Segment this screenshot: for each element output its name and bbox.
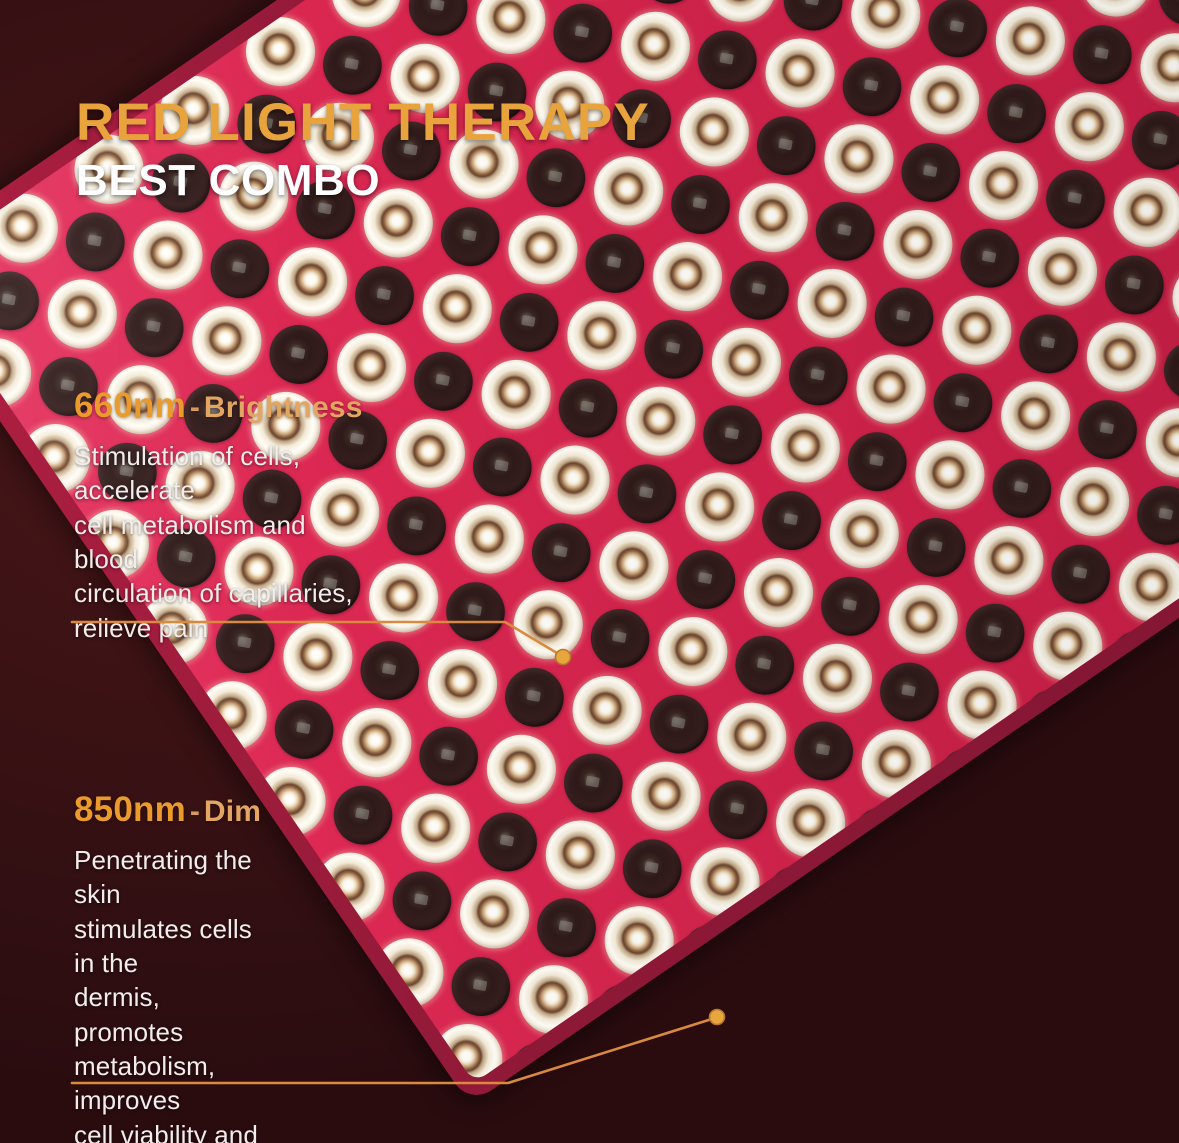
led-850nm [698, 769, 779, 850]
led-660nm [1100, 165, 1179, 260]
led-850nm [864, 276, 945, 357]
led-850nm [751, 480, 832, 561]
led-660nm [527, 433, 622, 528]
led-660nm [934, 658, 1029, 753]
led-nub-icon [816, 744, 830, 757]
led-850nm [612, 828, 693, 909]
led-nub-icon [1014, 481, 1028, 494]
led-850nm [500, 1032, 581, 1083]
led-850nm [671, 914, 752, 995]
spec-description-660nm: Stimulation of cells, accelerate cell me… [74, 439, 363, 645]
led-660nm [870, 197, 965, 292]
led-nub-icon [789, 888, 803, 901]
page-title: RED LIGHT THERAPY [76, 96, 650, 150]
led-850nm [114, 287, 195, 368]
led-660nm [902, 427, 997, 522]
led-850nm [200, 228, 281, 309]
led-nub-icon [645, 861, 659, 874]
led-nub-icon [752, 283, 766, 296]
led-660nm [752, 26, 847, 121]
led-660nm [956, 138, 1051, 233]
led-660nm [383, 406, 478, 501]
led-850nm [580, 598, 661, 679]
spec-description-850nm: Penetrating the skin stimulates cells in… [74, 843, 261, 1143]
led-nub-icon [671, 717, 685, 730]
mode-label-850nm: Dim [204, 795, 261, 828]
led-nub-icon [1132, 653, 1146, 666]
led-850nm [376, 485, 457, 566]
led-660nm [120, 208, 215, 303]
led-850nm [842, 796, 923, 877]
led-660nm [500, 577, 595, 672]
led-nub-icon [875, 829, 889, 842]
led-660nm [1106, 540, 1179, 635]
led-660nm [495, 202, 590, 297]
led-660nm [420, 1011, 515, 1083]
led-nub-icon [811, 369, 825, 382]
led-850nm [832, 46, 913, 127]
led-nub-icon [757, 658, 771, 671]
led-nub-icon [463, 229, 477, 242]
led-850nm [435, 571, 516, 652]
led-850nm [666, 539, 747, 620]
led-850nm [1153, 330, 1179, 411]
led-nub-icon [1127, 278, 1141, 291]
led-nub-icon [955, 395, 969, 408]
spec-dash-660nm: - [186, 391, 204, 424]
led-nub-icon [468, 604, 482, 617]
led-660nm [34, 266, 129, 361]
led-850nm [1008, 303, 1089, 384]
led-nub-icon [436, 374, 450, 387]
led-660nm [677, 834, 772, 929]
led-nub-icon [961, 770, 975, 783]
led-850nm [805, 191, 886, 272]
led-660nm [329, 695, 424, 790]
led-nub-icon [580, 401, 594, 414]
led-nub-icon [345, 58, 359, 71]
led-nub-icon [805, 0, 819, 6]
led-660nm [731, 545, 826, 640]
led-850nm [1014, 678, 1095, 759]
led-850nm [1067, 389, 1148, 470]
led-850nm [575, 223, 656, 304]
led-nub-icon [693, 197, 707, 210]
led-660nm [318, 0, 413, 41]
led-nub-icon [639, 486, 653, 499]
led-850nm [639, 684, 720, 765]
led-nub-icon [355, 808, 369, 821]
led-660nm [1015, 224, 1110, 319]
led-660nm [356, 550, 451, 645]
led-660nm [758, 400, 853, 495]
led-850nm [489, 282, 570, 363]
led-660nm [463, 0, 558, 67]
led-nub-icon [784, 513, 798, 526]
led-660nm [559, 663, 654, 758]
led-nub-icon [575, 26, 589, 39]
led-nub-icon [1154, 133, 1168, 146]
led-850nm [1126, 475, 1179, 556]
led-850nm [923, 362, 1004, 443]
led-660nm [988, 368, 1083, 463]
led-660nm [704, 690, 799, 785]
led-660nm [474, 722, 569, 817]
led-850nm [757, 855, 838, 936]
led-850nm [628, 0, 709, 15]
led-850nm [543, 0, 624, 74]
led-nub-icon [720, 53, 734, 66]
led-850nm [837, 421, 918, 502]
led-660nm [897, 52, 992, 147]
title-block: RED LIGHT THERAPY BEST COMBO [76, 96, 650, 204]
led-nub-icon [1073, 567, 1087, 580]
wavelength-label-850nm: 850nm [74, 790, 186, 829]
led-660nm [179, 293, 274, 388]
led-660nm [763, 775, 858, 870]
led-850nm [1041, 534, 1122, 615]
led-nub-icon [147, 320, 161, 333]
mode-label-660nm: Brightness [204, 391, 363, 424]
led-850nm [746, 105, 827, 186]
led-660nm [983, 0, 1078, 89]
led-660nm [233, 4, 328, 99]
led-850nm [409, 716, 490, 797]
led-850nm [521, 512, 602, 593]
led-850nm [1121, 100, 1179, 181]
led-nub-icon [1159, 508, 1173, 521]
led-nub-icon [382, 663, 396, 676]
led-nub-icon [923, 165, 937, 178]
led-660nm [816, 486, 911, 581]
led-660nm [1074, 309, 1169, 404]
led-660nm [849, 716, 944, 811]
led-nub-icon [532, 1065, 546, 1078]
led-nub-icon [666, 342, 680, 355]
led-850nm [810, 566, 891, 647]
led-660nm [784, 256, 879, 351]
led-nub-icon [704, 947, 718, 960]
spec-block-660nm: 660nm-Brightness Stimulation of cells, a… [74, 388, 363, 645]
led-660nm [184, 668, 279, 763]
led-nub-icon [473, 979, 487, 992]
led-850nm [778, 335, 859, 416]
led-nub-icon [779, 138, 793, 151]
led-850nm [1094, 244, 1175, 325]
led-nub-icon [586, 776, 600, 789]
led-850nm [553, 742, 634, 823]
led-660nm [875, 572, 970, 667]
led-850nm [430, 196, 511, 277]
led-660nm [843, 342, 938, 437]
led-660nm [618, 749, 713, 844]
led-nub-icon [2, 293, 16, 306]
page-subtitle: BEST COMBO [76, 158, 650, 204]
led-nub-icon [377, 288, 391, 301]
led-660nm [640, 229, 735, 324]
led-nub-icon [1041, 336, 1055, 349]
led-nub-icon [864, 79, 878, 92]
led-nub-icon [613, 631, 627, 644]
led-660nm [506, 952, 601, 1047]
led-850nm [869, 651, 950, 732]
led-660nm [672, 459, 767, 554]
led-nub-icon [1046, 711, 1060, 724]
led-660nm [608, 0, 703, 94]
led-nub-icon [896, 310, 910, 323]
led-nub-icon [495, 460, 509, 473]
led-660nm [645, 604, 740, 699]
led-nub-icon [870, 454, 884, 467]
led-660nm [388, 781, 483, 876]
led-660nm [447, 866, 542, 961]
led-660nm [1020, 599, 1115, 694]
led-850nm [344, 255, 425, 336]
led-660nm [468, 347, 563, 442]
led-660nm [591, 893, 686, 988]
led-660nm [693, 0, 788, 35]
infographic-canvas: RED LIGHT THERAPY BEST COMBO 660nm-Brigh… [0, 0, 1179, 1143]
led-nub-icon [982, 251, 996, 264]
led-660nm [361, 925, 456, 1020]
led-850nm [1099, 619, 1179, 700]
led-nub-icon [929, 540, 943, 553]
led-nub-icon [521, 315, 535, 328]
led-850nm [259, 314, 340, 395]
led-660nm [0, 325, 44, 420]
led-nub-icon [725, 428, 739, 441]
led-nub-icon [291, 347, 305, 360]
led-850nm [660, 164, 741, 245]
led-nub-icon [730, 802, 744, 815]
led-850nm [0, 260, 50, 341]
led-850nm [976, 73, 1057, 154]
led-850nm [607, 453, 688, 534]
spec-block-850nm: 850nm-Dim Penetrating the skin stimulate… [74, 792, 261, 1143]
led-nub-icon [232, 261, 246, 274]
led-660nm [811, 111, 906, 206]
led-850nm [634, 309, 715, 390]
led-nub-icon [559, 920, 573, 933]
led-660nm [613, 374, 708, 469]
led-660nm [533, 808, 628, 903]
led-850nm [692, 394, 773, 475]
led-nub-icon [414, 893, 428, 906]
led-nub-icon [441, 749, 455, 762]
led-850nm [783, 710, 864, 791]
led-850nm [891, 132, 972, 213]
led-850nm [548, 367, 629, 448]
led-850nm [526, 887, 607, 968]
led-850nm [1035, 159, 1116, 240]
led-660nm [554, 288, 649, 383]
led-850nm [403, 341, 484, 422]
led-660nm [667, 84, 762, 179]
led-850nm [55, 201, 136, 282]
led-850nm [1062, 14, 1143, 95]
led-850nm [382, 860, 463, 941]
led-nub-icon [698, 572, 712, 585]
led-850nm [928, 737, 1009, 818]
led-nub-icon [430, 0, 444, 12]
led-850nm [441, 946, 522, 1027]
led-nub-icon [500, 835, 514, 848]
led-nub-icon [838, 224, 852, 237]
led-nub-icon [1068, 192, 1082, 205]
led-850nm [719, 250, 800, 331]
led-660nm [415, 636, 510, 731]
led-660nm [924, 0, 1019, 3]
wavelength-label-660nm: 660nm [74, 386, 186, 425]
led-850nm [398, 0, 479, 47]
led-660nm [586, 518, 681, 613]
spec-heading-660nm: 660nm-Brightness [74, 388, 363, 423]
led-660nm [1041, 79, 1136, 174]
led-660nm [1159, 251, 1179, 346]
led-660nm [1047, 454, 1142, 549]
led-nub-icon [296, 722, 310, 735]
led-850nm [1003, 0, 1084, 9]
led-nub-icon [88, 235, 102, 248]
spec-dash-850nm: - [186, 795, 204, 828]
led-660nm [1132, 395, 1179, 490]
led-660nm [265, 234, 360, 329]
led-850nm [982, 448, 1063, 529]
led-660nm [725, 170, 820, 265]
led-nub-icon [607, 256, 621, 269]
led-660nm [699, 315, 794, 410]
led-850nm [950, 218, 1031, 299]
led-850nm [467, 801, 548, 882]
led-850nm [917, 0, 998, 68]
led-660nm [838, 0, 933, 62]
led-850nm [264, 689, 345, 770]
led-850nm [955, 593, 1036, 674]
led-nub-icon [902, 685, 916, 698]
led-850nm [687, 19, 768, 100]
spec-heading-850nm: 850nm-Dim [74, 792, 261, 827]
led-nub-icon [527, 690, 541, 703]
led-nub-icon [618, 1006, 632, 1019]
led-660nm [790, 631, 885, 726]
led-660nm [441, 491, 536, 586]
led-660nm [1068, 0, 1163, 30]
led-nub-icon [1009, 106, 1023, 119]
led-850nm [323, 775, 404, 856]
led-660nm [961, 513, 1056, 608]
led-850nm [773, 0, 854, 41]
led-850nm [725, 625, 806, 706]
led-850nm [896, 507, 977, 588]
led-nub-icon [1095, 47, 1109, 60]
led-nub-icon [409, 519, 423, 532]
led-660nm [1127, 20, 1179, 115]
led-660nm [302, 840, 397, 935]
led-660nm [0, 181, 71, 276]
led-850nm [1148, 0, 1179, 36]
led-850nm [585, 973, 666, 1054]
led-660nm [549, 0, 644, 8]
led-660nm [929, 283, 1024, 378]
led-nub-icon [987, 626, 1001, 639]
led-660nm [409, 261, 504, 356]
led-nub-icon [843, 599, 857, 612]
led-nub-icon [1100, 422, 1114, 435]
led-850nm [494, 657, 575, 738]
led-850nm [462, 426, 543, 507]
led-nub-icon [950, 20, 964, 33]
led-nub-icon [554, 545, 568, 558]
